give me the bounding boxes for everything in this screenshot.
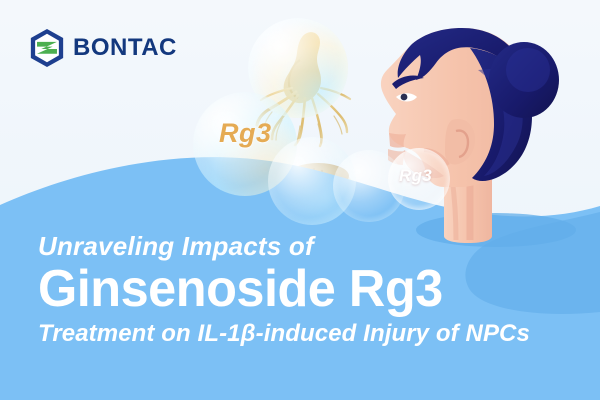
rg3-white-label: Rg3 <box>399 166 432 186</box>
headline-subtitle: Treatment on IL-1β-induced Injury of NPC… <box>38 321 558 347</box>
brand-name: BONTAC <box>73 36 177 60</box>
promo-banner: Rg3 Rg3 BONTAC Unraveling Impacts of Gin… <box>0 0 600 400</box>
bontac-hexagon-logo-icon <box>28 28 66 68</box>
headline-block: Unraveling Impacts of Ginsenoside Rg3 Tr… <box>38 233 558 348</box>
headline-eyebrow: Unraveling Impacts of <box>38 233 558 260</box>
rg3-gold-label: Rg3 <box>219 118 272 149</box>
headline-title: Ginsenoside Rg3 <box>38 262 542 317</box>
brand-logo[interactable]: BONTAC <box>28 28 177 68</box>
